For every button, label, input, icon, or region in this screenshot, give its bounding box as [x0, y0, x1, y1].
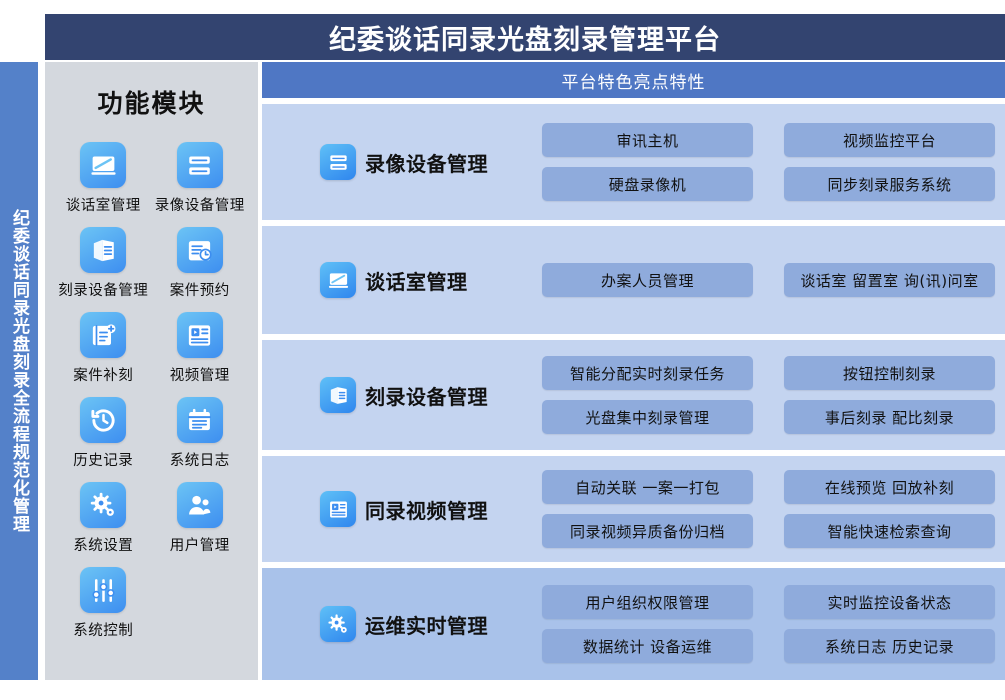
- module-item-label: 录像设备管理: [155, 194, 245, 215]
- feature-row: 谈话室管理办案人员管理谈话室 留置室 询(讯)问室: [262, 226, 1005, 334]
- feature-pill[interactable]: 实时监控设备状态: [784, 585, 995, 619]
- video-management-icon: [320, 491, 356, 527]
- feature-pill-columns: 自动关联 一案一打包同录视频异质备份归档在线预览 回放补刻智能快速检索查询: [542, 470, 1005, 548]
- feature-row-title: 谈话室管理: [365, 266, 468, 295]
- module-item[interactable]: 案件补刻: [55, 312, 152, 385]
- module-item[interactable]: 录像设备管理: [152, 142, 249, 215]
- feature-pill-columns: 办案人员管理谈话室 留置室 询(讯)问室: [542, 263, 1005, 297]
- feature-pill-column-right: 谈话室 留置室 询(讯)问室: [784, 263, 995, 297]
- gear-settings-icon[interactable]: [80, 482, 126, 528]
- feature-row-title: 同录视频管理: [365, 495, 488, 524]
- vertical-slogan-strip: 纪委谈话同录光盘刻录全流程规范化管理: [0, 62, 38, 680]
- feature-row: 运维实时管理用户组织权限管理数据统计 设备运维实时监控设备状态系统日志 历史记录: [262, 568, 1005, 680]
- history-clock-icon[interactable]: [80, 397, 126, 443]
- feature-pill-columns: 智能分配实时刻录任务光盘集中刻录管理按钮控制刻录事后刻录 配比刻录: [542, 356, 1005, 434]
- feature-pill-column-right: 按钮控制刻录事后刻录 配比刻录: [784, 356, 995, 434]
- feature-row-head[interactable]: 谈话室管理: [262, 262, 542, 298]
- interview-room-icon: [320, 262, 356, 298]
- feature-pill[interactable]: 自动关联 一案一打包: [542, 470, 753, 504]
- feature-pill-columns: 审讯主机硬盘录像机视频监控平台同步刻录服务系统: [542, 123, 1005, 201]
- module-item-label: 案件补刻: [73, 364, 133, 385]
- interview-room-icon[interactable]: [80, 142, 126, 188]
- feature-pill-column-right: 实时监控设备状态系统日志 历史记录: [784, 585, 995, 663]
- feature-pill-column-left: 审讯主机硬盘录像机: [542, 123, 753, 201]
- system-log-icon[interactable]: [177, 397, 223, 443]
- feature-rows: 录像设备管理审讯主机硬盘录像机视频监控平台同步刻录服务系统谈话室管理办案人员管理…: [262, 104, 1005, 680]
- sliders-control-icon[interactable]: [80, 567, 126, 613]
- module-item-label: 历史记录: [73, 449, 133, 470]
- modules-panel: 功能模块 谈话室管理录像设备管理刻录设备管理案件预约案件补刻视频管理历史记录系统…: [45, 62, 258, 680]
- feature-row-head[interactable]: 运维实时管理: [262, 606, 542, 642]
- modules-panel-title: 功能模块: [45, 84, 258, 120]
- feature-pill[interactable]: 按钮控制刻录: [784, 356, 995, 390]
- recording-device-icon[interactable]: [177, 142, 223, 188]
- vertical-slogan-text: 纪委谈话同录光盘刻录全流程规范化管理: [9, 209, 29, 533]
- module-item-label: 案件预约: [170, 279, 230, 300]
- feature-pill[interactable]: 同步刻录服务系统: [784, 167, 995, 201]
- module-item-label: 刻录设备管理: [58, 279, 148, 300]
- modules-grid: 谈话室管理录像设备管理刻录设备管理案件预约案件补刻视频管理历史记录系统日志系统设…: [45, 142, 258, 652]
- feature-pill-column-right: 在线预览 回放补刻智能快速检索查询: [784, 470, 995, 548]
- page-title-text: 纪委谈话同录光盘刻录管理平台: [329, 18, 721, 57]
- module-item[interactable]: 系统设置: [55, 482, 152, 555]
- feature-pill[interactable]: 在线预览 回放补刻: [784, 470, 995, 504]
- feature-row-head[interactable]: 同录视频管理: [262, 491, 542, 527]
- feature-pill-column-right: 视频监控平台同步刻录服务系统: [784, 123, 995, 201]
- module-item-label: 系统设置: [73, 534, 133, 555]
- module-item-label: 系统日志: [170, 449, 230, 470]
- feature-row-head[interactable]: 录像设备管理: [262, 144, 542, 180]
- case-appointment-icon[interactable]: [177, 227, 223, 273]
- feature-pill[interactable]: 系统日志 历史记录: [784, 629, 995, 663]
- case-reburn-icon[interactable]: [80, 312, 126, 358]
- feature-pill-column-left: 办案人员管理: [542, 263, 753, 297]
- feature-row-title: 录像设备管理: [365, 148, 488, 177]
- video-management-icon[interactable]: [177, 312, 223, 358]
- gear-settings-icon: [320, 606, 356, 642]
- feature-pill[interactable]: 硬盘录像机: [542, 167, 753, 201]
- burner-device-icon: [320, 377, 356, 413]
- users-icon[interactable]: [177, 482, 223, 528]
- burner-device-icon[interactable]: [80, 227, 126, 273]
- feature-pill-columns: 用户组织权限管理数据统计 设备运维实时监控设备状态系统日志 历史记录: [542, 585, 1005, 663]
- feature-row-title: 刻录设备管理: [365, 381, 488, 410]
- module-item-label: 视频管理: [170, 364, 230, 385]
- module-item[interactable]: 历史记录: [55, 397, 152, 470]
- feature-pill[interactable]: 视频监控平台: [784, 123, 995, 157]
- feature-pill[interactable]: 光盘集中刻录管理: [542, 400, 753, 434]
- feature-pill[interactable]: 用户组织权限管理: [542, 585, 753, 619]
- features-banner-text: 平台特色亮点特性: [562, 68, 706, 93]
- feature-row: 录像设备管理审讯主机硬盘录像机视频监控平台同步刻录服务系统: [262, 104, 1005, 220]
- feature-pill-column-left: 智能分配实时刻录任务光盘集中刻录管理: [542, 356, 753, 434]
- module-item[interactable]: 案件预约: [152, 227, 249, 300]
- feature-pill[interactable]: 审讯主机: [542, 123, 753, 157]
- feature-pill[interactable]: 谈话室 留置室 询(讯)问室: [784, 263, 995, 297]
- page-root: 纪委谈话同录光盘刻录管理平台 纪委谈话同录光盘刻录全流程规范化管理 功能模块 谈…: [0, 0, 1005, 700]
- feature-pill[interactable]: 办案人员管理: [542, 263, 753, 297]
- module-item[interactable]: 谈话室管理: [55, 142, 152, 215]
- feature-pill[interactable]: 智能快速检索查询: [784, 514, 995, 548]
- feature-row-head[interactable]: 刻录设备管理: [262, 377, 542, 413]
- features-banner: 平台特色亮点特性: [262, 62, 1005, 98]
- features-column: 平台特色亮点特性 录像设备管理审讯主机硬盘录像机视频监控平台同步刻录服务系统谈话…: [262, 62, 1005, 680]
- feature-pill[interactable]: 事后刻录 配比刻录: [784, 400, 995, 434]
- recording-device-icon: [320, 144, 356, 180]
- module-item[interactable]: 系统控制: [55, 567, 152, 640]
- feature-pill[interactable]: 智能分配实时刻录任务: [542, 356, 753, 390]
- module-item[interactable]: 刻录设备管理: [55, 227, 152, 300]
- feature-row: 同录视频管理自动关联 一案一打包同录视频异质备份归档在线预览 回放补刻智能快速检…: [262, 456, 1005, 562]
- page-title: 纪委谈话同录光盘刻录管理平台: [45, 14, 1005, 60]
- feature-row: 刻录设备管理智能分配实时刻录任务光盘集中刻录管理按钮控制刻录事后刻录 配比刻录: [262, 340, 1005, 450]
- module-item-label: 系统控制: [73, 619, 133, 640]
- module-item-label: 谈话室管理: [66, 194, 141, 215]
- feature-row-title: 运维实时管理: [365, 610, 488, 639]
- feature-pill-column-left: 用户组织权限管理数据统计 设备运维: [542, 585, 753, 663]
- module-item-label: 用户管理: [170, 534, 230, 555]
- feature-pill[interactable]: 数据统计 设备运维: [542, 629, 753, 663]
- module-item[interactable]: 视频管理: [152, 312, 249, 385]
- module-item[interactable]: 系统日志: [152, 397, 249, 470]
- feature-pill-column-left: 自动关联 一案一打包同录视频异质备份归档: [542, 470, 753, 548]
- module-item[interactable]: 用户管理: [152, 482, 249, 555]
- feature-pill[interactable]: 同录视频异质备份归档: [542, 514, 753, 548]
